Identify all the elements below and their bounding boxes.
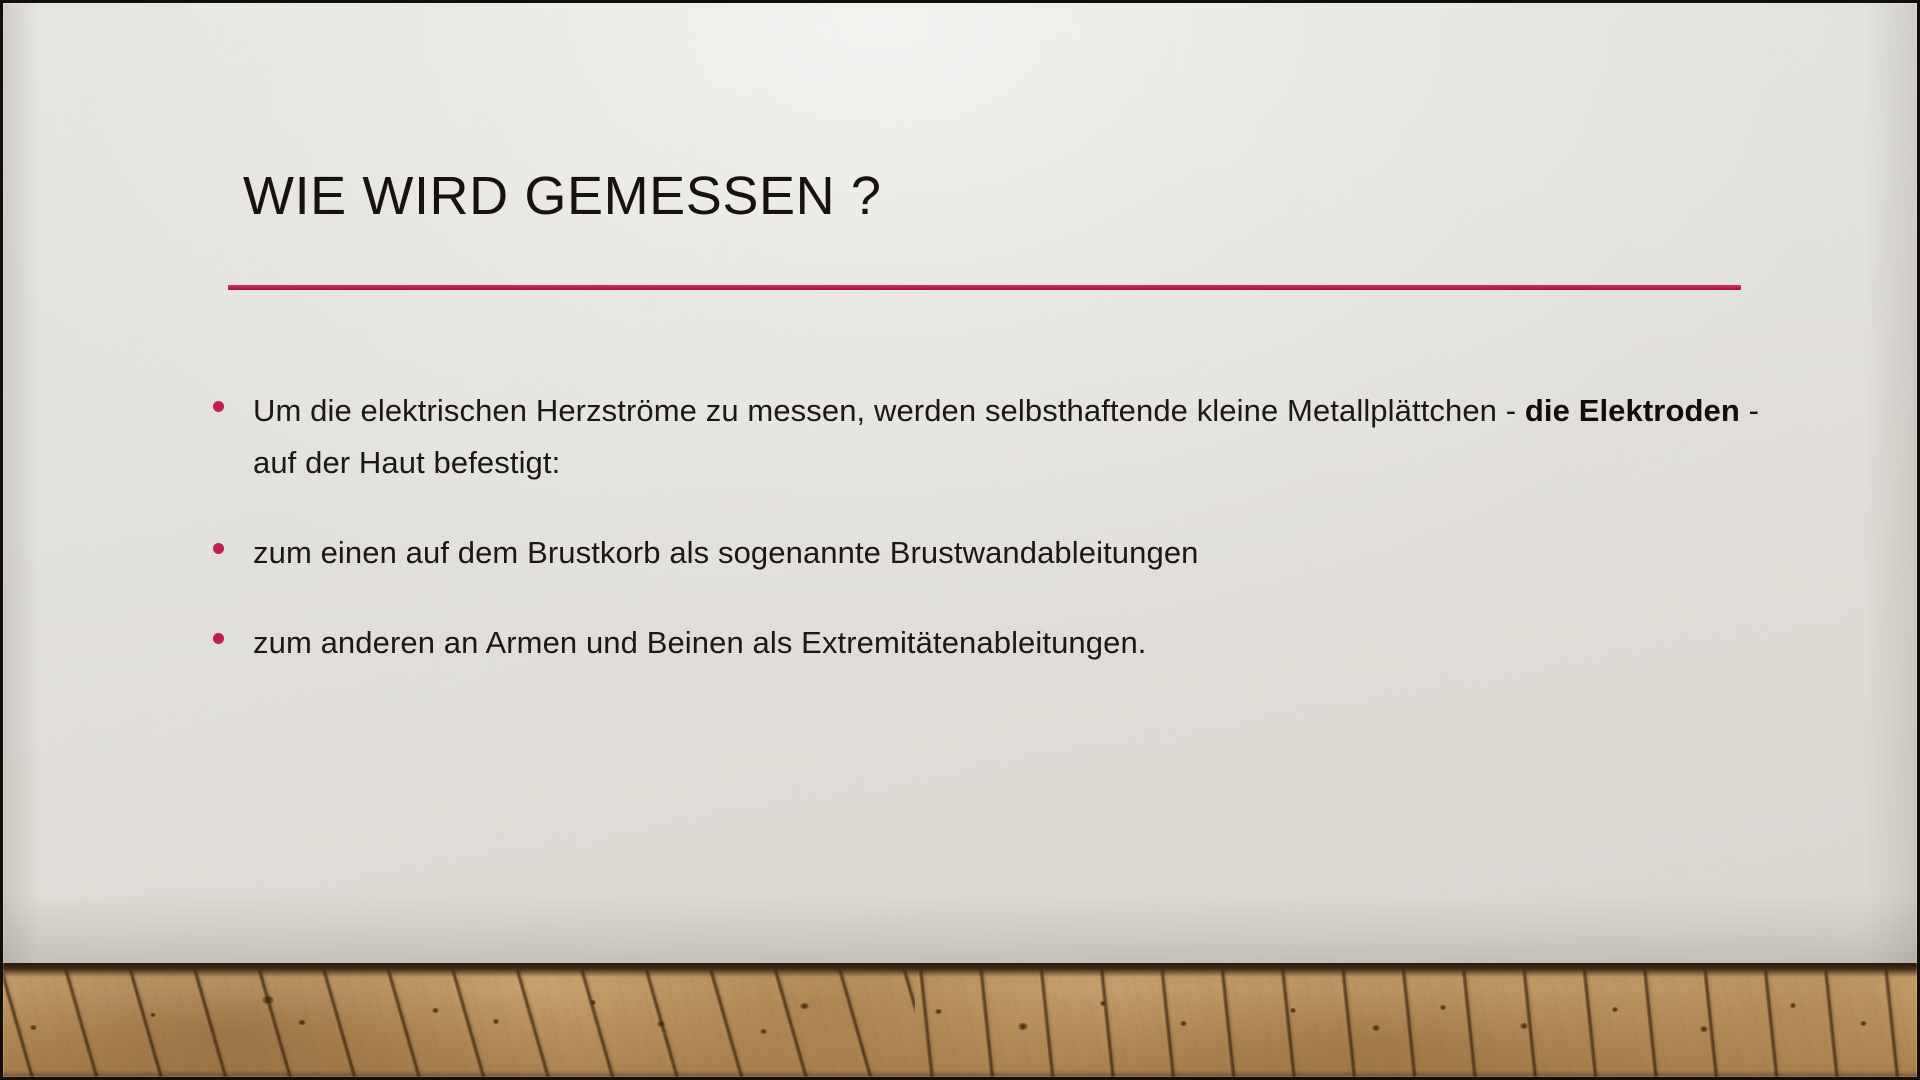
list-item: Um die elektrischen Herzströme zu messen… bbox=[213, 385, 1773, 489]
wood-floor-strip bbox=[0, 963, 1920, 1080]
floor-knot bbox=[590, 1000, 596, 1005]
floor-knot bbox=[657, 1021, 665, 1027]
bullet-dot-icon bbox=[213, 543, 224, 554]
floor-knot bbox=[1700, 1026, 1708, 1032]
bullet-dot-icon bbox=[213, 633, 224, 644]
floor-knot bbox=[298, 1020, 306, 1025]
slide-title: WIE WIRD GEMESSEN ? bbox=[243, 164, 881, 228]
bullet-text: zum anderen an Armen und Beinen als Extr… bbox=[253, 617, 1147, 669]
bullet-list: Um die elektrischen Herzströme zu messen… bbox=[213, 385, 1773, 707]
floor-knot bbox=[1180, 1021, 1187, 1026]
list-item: zum anderen an Armen und Beinen als Extr… bbox=[213, 617, 1773, 669]
floor-knot bbox=[1100, 1001, 1106, 1006]
floor-top-shadow bbox=[0, 963, 1920, 977]
bullet-text: zum einen auf dem Brustkorb als sogenann… bbox=[253, 527, 1199, 579]
floor-knot bbox=[30, 1025, 37, 1030]
floor-base-texture bbox=[0, 963, 1920, 1080]
floor-knot bbox=[1440, 1005, 1446, 1010]
floor-knot bbox=[1612, 1007, 1618, 1012]
floor-knot bbox=[1372, 1025, 1380, 1031]
list-item: zum einen auf dem Brustkorb als sogenann… bbox=[213, 527, 1773, 579]
floor-knot bbox=[1860, 1021, 1867, 1026]
floor-bottom-shadow bbox=[0, 1070, 1920, 1080]
floor-knot bbox=[493, 1019, 499, 1024]
floor-knot bbox=[760, 1029, 767, 1034]
bullet-dot-icon bbox=[213, 401, 224, 412]
floor-knot bbox=[262, 996, 274, 1004]
presentation-slide: WIE WIRD GEMESSEN ? Um die elektrischen … bbox=[0, 0, 1920, 1080]
bullet-marker bbox=[213, 617, 253, 644]
floor-knot bbox=[935, 1009, 942, 1014]
floor-knot bbox=[800, 1003, 809, 1009]
bullet-marker bbox=[213, 527, 253, 554]
floor-knot bbox=[432, 1008, 439, 1013]
floor-knot bbox=[1018, 1023, 1028, 1030]
accent-divider-line bbox=[228, 285, 1741, 290]
bullet-marker bbox=[213, 385, 253, 412]
floor-knot bbox=[1520, 1023, 1528, 1029]
floor-knot bbox=[1790, 1003, 1796, 1008]
floor-knot bbox=[150, 1013, 156, 1017]
floor-knot bbox=[1290, 1008, 1296, 1013]
bullet-text: Um die elektrischen Herzströme zu messen… bbox=[253, 385, 1773, 489]
